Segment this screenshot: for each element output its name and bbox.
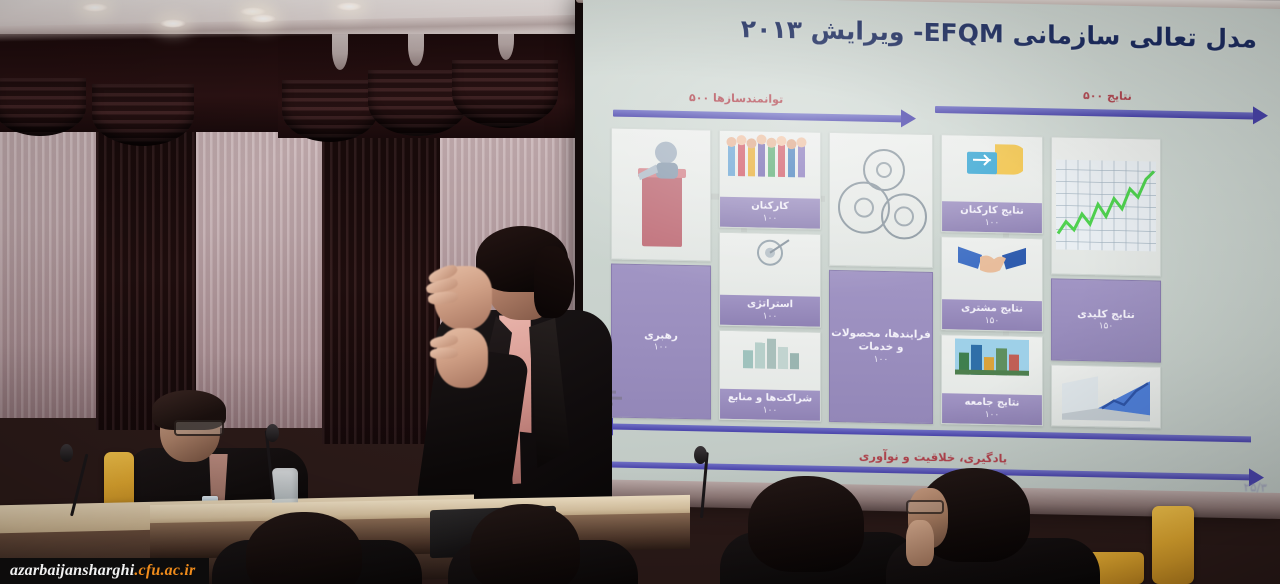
society-results-label: نتایج جامعه (965, 397, 1020, 409)
society-results-city-icon (944, 337, 1040, 377)
people-points: ۱۰۰ (722, 213, 818, 226)
box-processes: فرایندها، محصولات و خدمات ۱۰۰ (829, 270, 933, 424)
customer-results-handshake-icon (944, 239, 1040, 281)
enablers-arrow (613, 110, 903, 123)
audience-member-1-head (246, 512, 362, 584)
presenter (414, 232, 624, 532)
people-caption: کارکنان ۱۰۰ (720, 197, 820, 229)
microphone-head-center (266, 424, 279, 442)
box-people-results: نتایج کارکنان ۱۰۰ (941, 134, 1043, 234)
swag-3 (282, 80, 378, 142)
leadership-label: رهبری (644, 329, 678, 342)
processes-points: ۱۰۰ (830, 353, 932, 366)
panelist-glasses (174, 420, 224, 436)
box-partnerships: شراکت‌ها و منابع ۱۰۰ (719, 330, 821, 422)
microphone-head-right (694, 446, 707, 464)
watermark-name: azarbaijansharghi (10, 562, 134, 580)
leadership-caption: رهبری ۱۰۰ (644, 329, 678, 354)
site-watermark: azarbaijansharghi .cfu.ac.ir (0, 558, 209, 584)
key-results-barchart-icon (1054, 367, 1158, 425)
customer-results-points: ۱۵۰ (944, 315, 1040, 328)
presenter-hair-side (534, 246, 574, 318)
partnerships-caption: شراکت‌ها و منابع ۱۰۰ (720, 389, 820, 421)
swag-5 (452, 60, 558, 128)
people-label: کارکنان (751, 201, 789, 213)
chair-yellow-right (1152, 506, 1194, 584)
audience-member-4-hand (906, 520, 934, 566)
processes-label: فرایندها، محصولات و خدمات (831, 327, 931, 354)
projection-screen: مدل تعالی سازمانی EFQM- ویرایش ۲۰۱۳ توان… (583, 0, 1280, 503)
efqm-model-grid: رهبری ۱۰۰ (605, 123, 1165, 434)
people-crowd-icon (722, 133, 818, 181)
key-results-points: ۱۵۰ (1077, 321, 1135, 333)
tassel-1 (332, 30, 348, 70)
box-key-results-bars (1051, 364, 1161, 428)
watermark-domain: .cfu.ac.ir (134, 562, 195, 580)
swag-2 (92, 84, 194, 146)
box-customer-results: نتایج مشتری ۱۵۰ (941, 236, 1043, 332)
key-results-caption: نتایج کلیدی ۱۵۰ (1077, 308, 1135, 334)
downlight-5 (250, 14, 276, 23)
strategy-points: ۱۰۰ (722, 311, 818, 324)
customer-results-caption: نتایج مشتری ۱۵۰ (942, 299, 1042, 331)
strategy-label: استراتژی (747, 299, 793, 311)
key-results-linechart-icon (1054, 139, 1158, 271)
partnerships-label: شراکت‌ها و منابع (728, 392, 812, 405)
people-results-icon (944, 137, 1040, 185)
box-key-results: نتایج کلیدی ۱۵۰ (1051, 278, 1161, 362)
key-results-label: نتایج کلیدی (1077, 308, 1135, 321)
leadership-points: ۱۰۰ (644, 342, 678, 354)
box-people: کارکنان ۱۰۰ (719, 130, 821, 230)
audience-member-4-glasses (906, 500, 944, 514)
efqm-slide: مدل تعالی سازمانی EFQM- ویرایش ۲۰۱۳ توان… (583, 0, 1280, 503)
box-key-results-chart (1051, 136, 1161, 276)
leadership-podium-icon (614, 131, 708, 257)
people-results-caption: نتایج کارکنان ۱۰۰ (942, 201, 1042, 233)
people-results-label: نتایج کارکنان (960, 205, 1024, 217)
box-society-results: نتایج جامعه ۱۰۰ (941, 334, 1043, 426)
strategy-icon (722, 235, 818, 277)
microphone-head-left (60, 444, 73, 462)
downlight-3 (160, 19, 186, 28)
customer-results-label: نتایج مشتری (961, 303, 1023, 315)
box-leadership-image (611, 128, 711, 262)
society-results-caption: نتایج جامعه ۱۰۰ (942, 393, 1042, 425)
conference-photo: مدل تعالی سازمانی EFQM- ویرایش ۲۰۱۳ توان… (0, 0, 1280, 584)
slide-title: مدل تعالی سازمانی EFQM- ویرایش ۲۰۱۳ (637, 10, 1257, 56)
partnerships-icon (722, 333, 818, 373)
enablers-arrow-label: توانمندسازها ۵۰۰ (689, 91, 783, 106)
downlight-1 (82, 3, 108, 12)
processes-gears-icon (832, 135, 930, 263)
people-results-points: ۱۰۰ (944, 217, 1040, 230)
society-results-points: ۱۰۰ (944, 409, 1040, 422)
audience-member-3-head (748, 476, 864, 572)
strategy-caption: استراتژی ۱۰۰ (720, 295, 820, 327)
box-strategy: استراتژی ۱۰۰ (719, 232, 821, 328)
results-arrow-label: نتایج ۵۰۰ (1083, 89, 1132, 103)
results-arrow (935, 106, 1255, 119)
box-processes-image (829, 132, 933, 268)
presenter-finger-5 (430, 348, 458, 360)
audience-member-2-head (470, 504, 580, 584)
downlight-4 (336, 2, 362, 11)
processes-caption: فرایندها، محصولات و خدمات ۱۰۰ (830, 327, 932, 367)
partnerships-points: ۱۰۰ (722, 405, 818, 418)
